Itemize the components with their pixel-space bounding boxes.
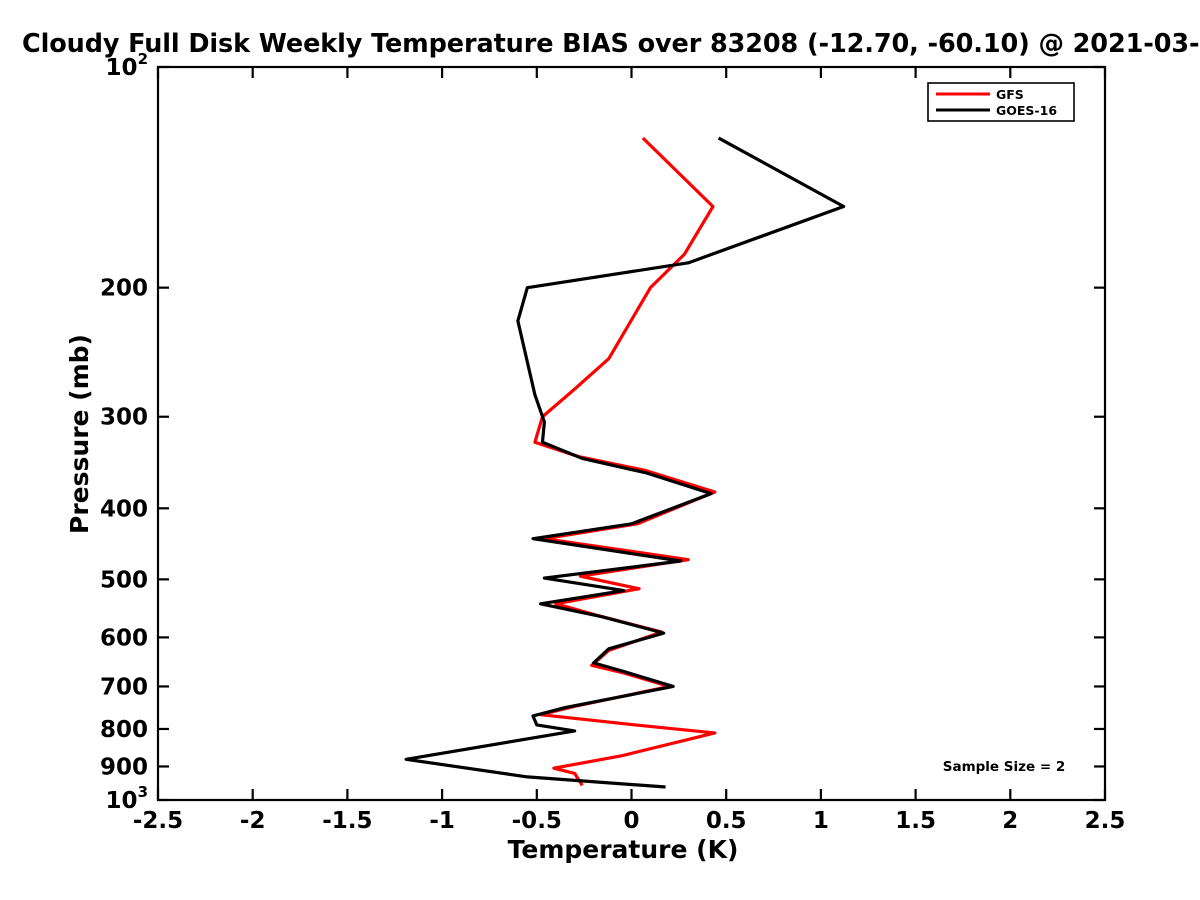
- x-axis-ticks: [158, 67, 1105, 800]
- y-tick-label: 500: [100, 567, 148, 593]
- x-tick-label: -0.5: [512, 808, 562, 834]
- y-tick-label: 800: [100, 717, 148, 743]
- y-tick-label: 600: [100, 625, 148, 651]
- plot-border: [158, 67, 1105, 800]
- y-axis-ticks: [158, 67, 1105, 800]
- y-tick-label: 300: [100, 405, 148, 431]
- legend-label-gfs: GFS: [996, 87, 1024, 102]
- x-axis-tick-labels: -2.5-2-1.5-1-0.500.511.522.5: [133, 808, 1126, 834]
- y-tick-label: 400: [100, 496, 148, 522]
- x-tick-label: 0.5: [706, 808, 747, 834]
- y-tick-label-exponential: 102: [106, 50, 148, 81]
- axes-frame: [158, 67, 1105, 800]
- x-tick-label: 1: [813, 808, 829, 834]
- plot-canvas: -2.5-2-1.5-1-0.500.511.522.5 10220030040…: [0, 0, 1200, 900]
- x-tick-label: -1: [429, 808, 455, 834]
- x-tick-label: 2.5: [1085, 808, 1126, 834]
- series-line-gfs: [535, 138, 715, 785]
- x-axis-title: Temperature (K): [508, 835, 739, 864]
- data-series-layer: [406, 138, 844, 787]
- x-tick-label: 0: [623, 808, 639, 834]
- sample-size-annotation: Sample Size = 2: [943, 759, 1066, 775]
- x-tick-label: -2.5: [133, 808, 183, 834]
- legend: GFSGOES-16: [928, 83, 1074, 121]
- y-tick-label: 700: [100, 674, 148, 700]
- y-tick-label: 900: [100, 754, 148, 780]
- x-tick-label: 2: [1002, 808, 1018, 834]
- series-line-goes-16: [406, 138, 844, 787]
- x-tick-label: 1.5: [895, 808, 936, 834]
- x-tick-label: -2: [240, 808, 266, 834]
- y-axis-tick-labels: 102200300400500600700800900103: [100, 50, 148, 814]
- legend-label-goes-16: GOES-16: [996, 103, 1057, 118]
- x-tick-label: -1.5: [322, 808, 372, 834]
- y-tick-label: 200: [100, 276, 148, 302]
- plot-figure: Cloudy Full Disk Weekly Temperature BIAS…: [0, 0, 1200, 900]
- y-axis-title: Pressure (mb): [65, 334, 94, 534]
